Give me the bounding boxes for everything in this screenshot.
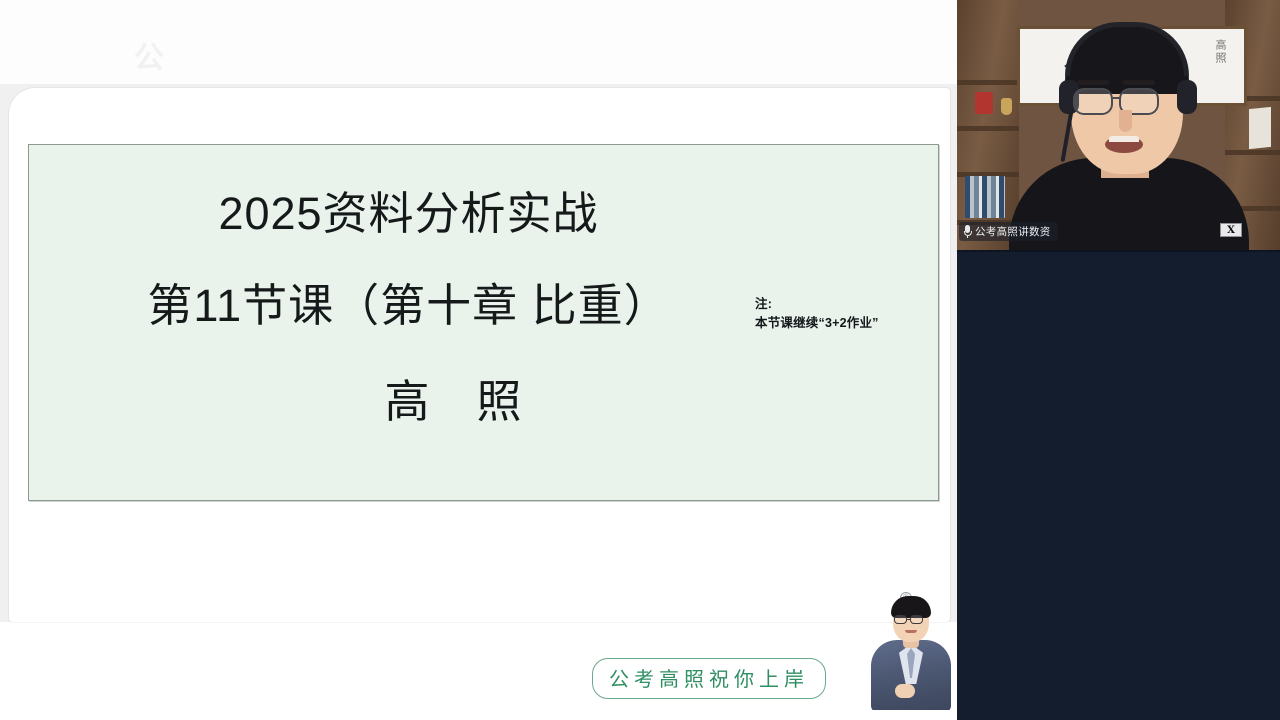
presenter-photo-cutout xyxy=(865,588,957,710)
slogan-text: 公考高照祝你上岸 xyxy=(609,663,809,692)
slide-note: 注: 本节课继续“3+2作业” xyxy=(755,295,957,334)
paper-sheet xyxy=(1249,107,1271,149)
slogan-pill: 公考高照祝你上岸 xyxy=(592,658,826,699)
red-book xyxy=(975,92,993,114)
participant-name-label: 公考高照讲数资 xyxy=(975,224,1051,239)
slide-content-box: 2025资料分析实战 第11节课（第十章 比重） 高 照 注: 本节课继续“3+… xyxy=(28,144,939,501)
headset-icon xyxy=(1065,22,1189,76)
call-empty-area xyxy=(957,252,1280,720)
participant-person xyxy=(1019,18,1229,250)
close-icon[interactable]: X xyxy=(1220,223,1242,237)
slide-note-label: 注: xyxy=(755,295,957,314)
screen-share-region: 公 2025资料分析实战 第11节课（第十章 比重） 高 照 注: 本节课继续“… xyxy=(0,0,957,720)
bookshelf-left xyxy=(957,0,1019,250)
vase-ornament xyxy=(1001,98,1012,115)
participant-video-tile[interactable]: 公 高照 xyxy=(957,0,1280,250)
slide-note-body: 本节课继续“3+2作业” xyxy=(755,314,957,333)
slide-title-line-1: 2025资料分析实战 xyxy=(29,177,938,242)
slide-card: 2025资料分析实战 第11节课（第十章 比重） 高 照 注: 本节课继续“3+… xyxy=(9,88,950,622)
video-call-column: 公 高照 xyxy=(957,0,1280,720)
books-stack xyxy=(965,176,1005,218)
ghost-watermark: 公 xyxy=(126,38,170,80)
slide-presenter-name: 高 照 xyxy=(29,365,938,430)
screen-root: 公 2025资料分析实战 第11节课（第十章 比重） 高 照 注: 本节课继续“… xyxy=(0,0,1280,720)
participant-name-chip: 公考高照讲数资 xyxy=(959,222,1058,241)
microphone-icon xyxy=(963,225,972,238)
